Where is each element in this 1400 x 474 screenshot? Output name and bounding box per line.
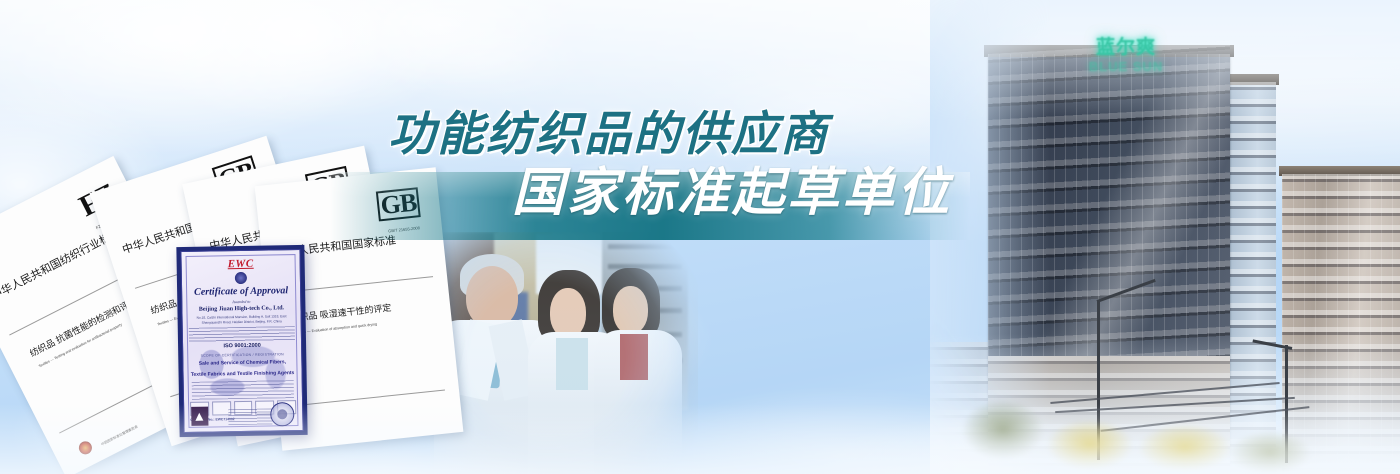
rooftop-sign-line1: 蓝尔爽 bbox=[1078, 38, 1174, 57]
hero-banner: 蓝尔爽 BLUE SUN bbox=[0, 0, 1400, 474]
rooftop-sign: 蓝尔爽 BLUE SUN bbox=[1078, 38, 1174, 78]
standard-subtitle-en: Textiles — Evaluation of absorption and … bbox=[294, 322, 377, 335]
band-gloss bbox=[330, 172, 970, 198]
issuer-text: 中国国家标准化管理委员会 bbox=[100, 424, 139, 447]
divider bbox=[292, 389, 445, 406]
rooftop-sign-line2: BLUE SUN bbox=[1078, 57, 1174, 76]
certificate-footer-text bbox=[192, 380, 294, 400]
laboratory-team-photo bbox=[430, 232, 698, 474]
headline-teal-band bbox=[330, 172, 970, 240]
iso-certificate: EWC Certificate of Approval Awarded to B… bbox=[176, 245, 307, 437]
certificate-inner: EWC Certificate of Approval Awarded to B… bbox=[180, 249, 303, 433]
certificate-address: No.18, Caizhi International Mansion, Bui… bbox=[187, 314, 297, 326]
photo-tint bbox=[430, 232, 698, 474]
certificate-scheme-text bbox=[228, 408, 272, 425]
issuer-seal bbox=[77, 439, 94, 456]
ewc-logo: EWC bbox=[182, 257, 300, 271]
standard-subtitle: 纺织品 抗菌性能的检测和评价 bbox=[27, 294, 139, 360]
accreditation-mark-icon bbox=[191, 407, 208, 426]
street-tree bbox=[1215, 424, 1325, 474]
certificate-title: Certificate of Approval bbox=[182, 285, 300, 298]
certificates-group: FZ FZ/T 01137-2011 中华人民共和国纺织行业标准 纺织品 抗菌性… bbox=[0, 150, 360, 474]
certificate-body-text bbox=[189, 326, 295, 342]
